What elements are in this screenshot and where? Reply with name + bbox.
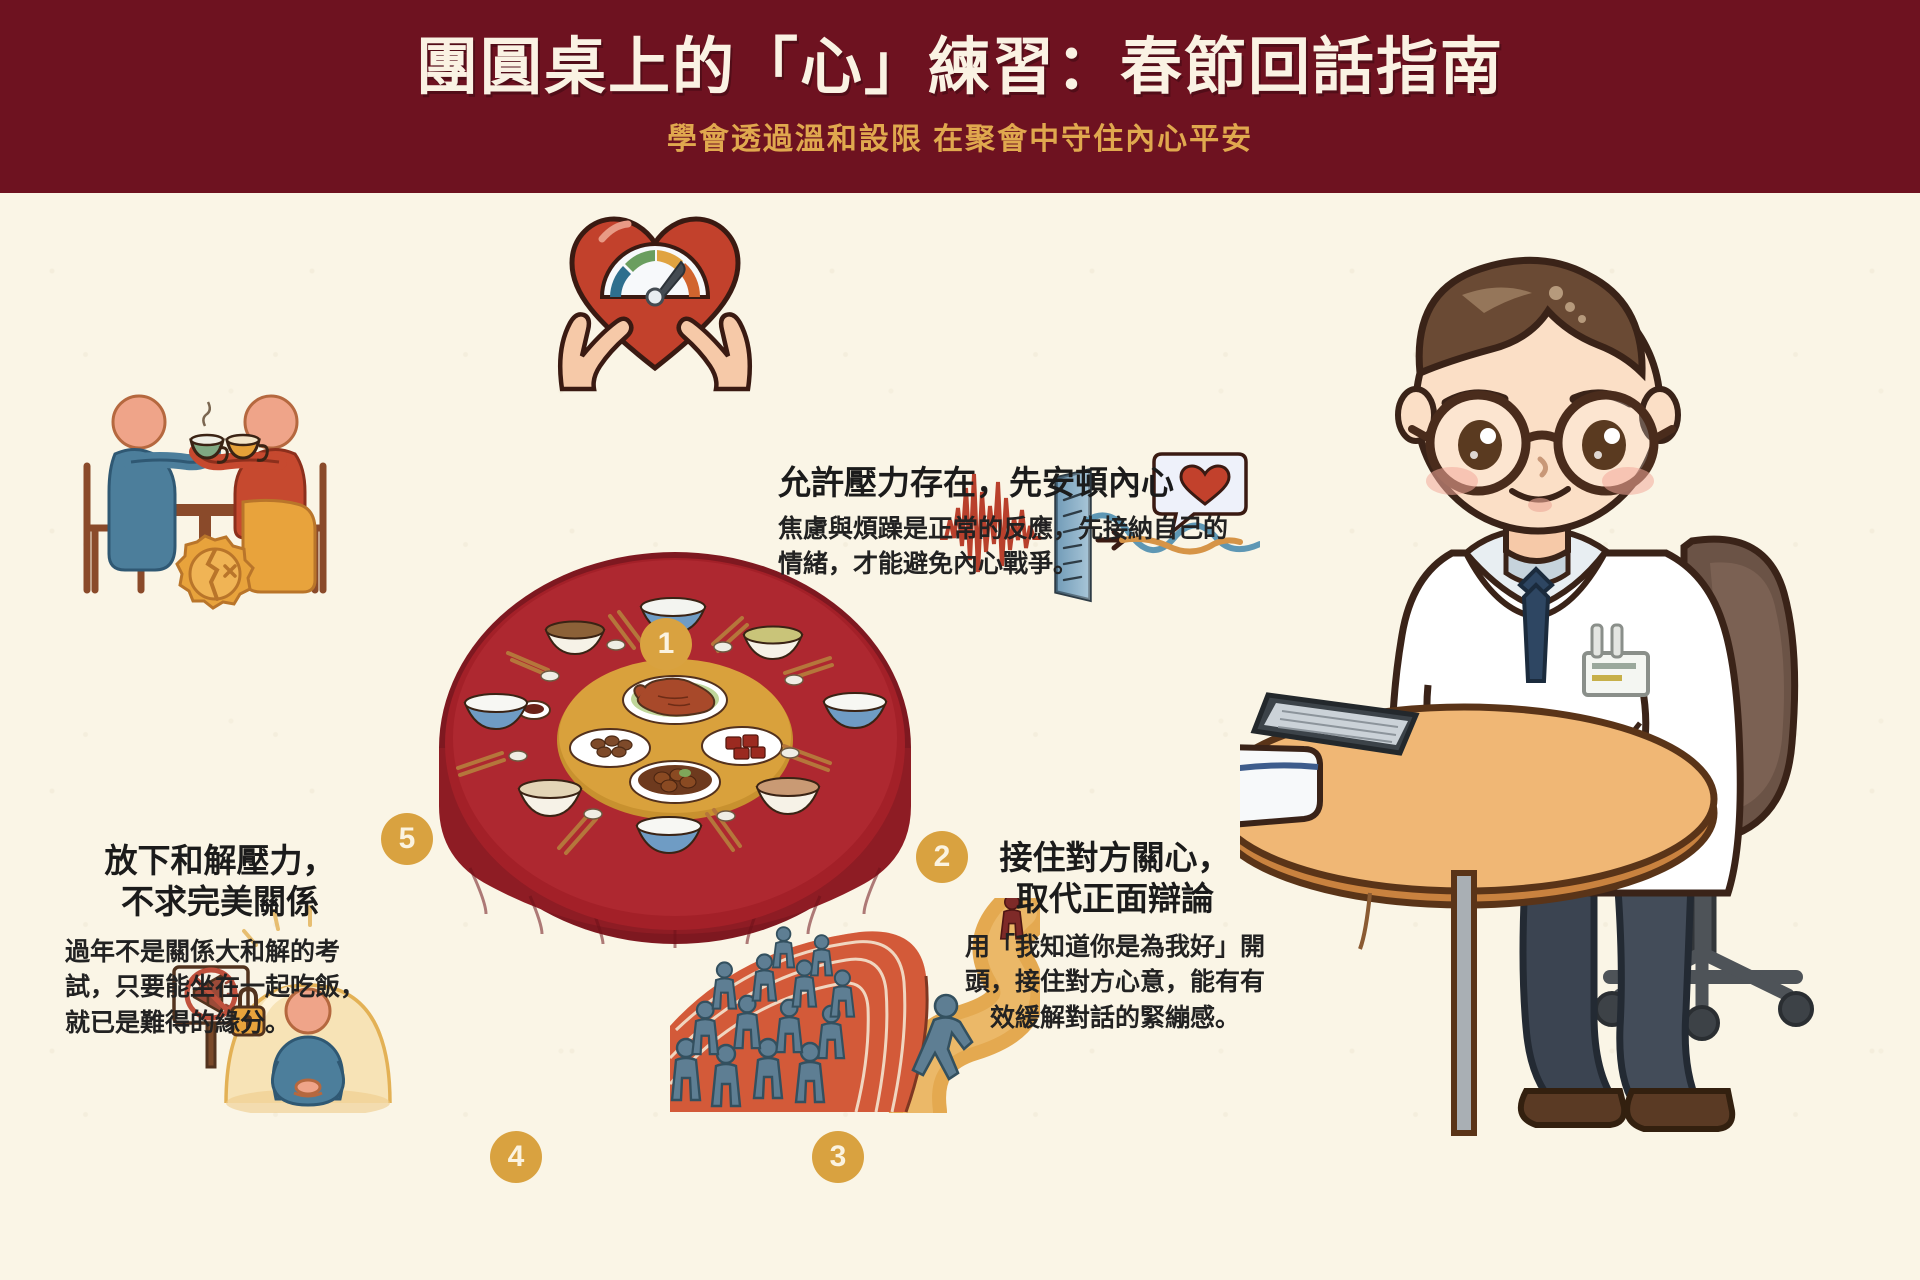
- tip-1-title: 允許壓力存在，先安頓內心: [778, 463, 1248, 504]
- step-badge-5: 5: [381, 813, 433, 865]
- tip-5-description: 過年不是關係大和解的考試，只要能坐在一起吃飯，就已是難得的緣分。: [55, 935, 385, 1042]
- tip-5-title-line1: 放下和解壓力，: [55, 841, 385, 882]
- tip-item-2: 接住對方關心， 取代正面辯論 用「我知道你是為我好」開頭，接住對方心意，能有有效…: [955, 838, 1275, 1036]
- header-banner: 團圓桌上的「心」練習：春節回話指南 學會透過溫和設限 在聚會中守住內心平安: [0, 0, 1920, 193]
- tip-5-title-line2: 不求完美關係: [55, 882, 385, 923]
- tip-2-title-line2: 取代正面辯論: [955, 879, 1275, 920]
- step-badge-1: 1: [640, 618, 692, 670]
- tip-2-description: 用「我知道你是為我好」開頭，接住對方心意，能有有效緩解對話的緊繃感。: [955, 930, 1275, 1037]
- tip-item-5: 放下和解壓力， 不求完美關係 過年不是關係大和解的考試，只要能坐在一起吃飯，就已…: [55, 841, 385, 1041]
- tip-1-description: 焦慮與煩躁是正常的反應，先接納自己的情緒，才能避免內心戰爭。: [778, 512, 1248, 583]
- step-badge-3: 3: [812, 1131, 864, 1183]
- heart-gauge-in-hands-icon: [550, 193, 760, 393]
- page-subtitle: 學會透過溫和設限 在聚會中守住內心平安: [667, 114, 1253, 158]
- page-title: 團圓桌上的「心」練習：春節回話指南: [416, 35, 1504, 100]
- cartoon-doctor-illustration: [1240, 253, 1920, 1273]
- infographic-canvas: 1 2 3 4 5 允許壓力存在，先安頓內心 焦慮與煩躁是正常的反應，先接納自己…: [0, 193, 1920, 1280]
- step-badge-2: 2: [916, 831, 968, 883]
- tip-2-title-line1: 接住對方關心，: [955, 838, 1275, 879]
- two-people-at-table-icon: [55, 378, 355, 618]
- tip-item-1: 允許壓力存在，先安頓內心 焦慮與煩躁是正常的反應，先接納自己的情緒，才能避免內心…: [778, 463, 1248, 583]
- step-badge-4: 4: [490, 1131, 542, 1183]
